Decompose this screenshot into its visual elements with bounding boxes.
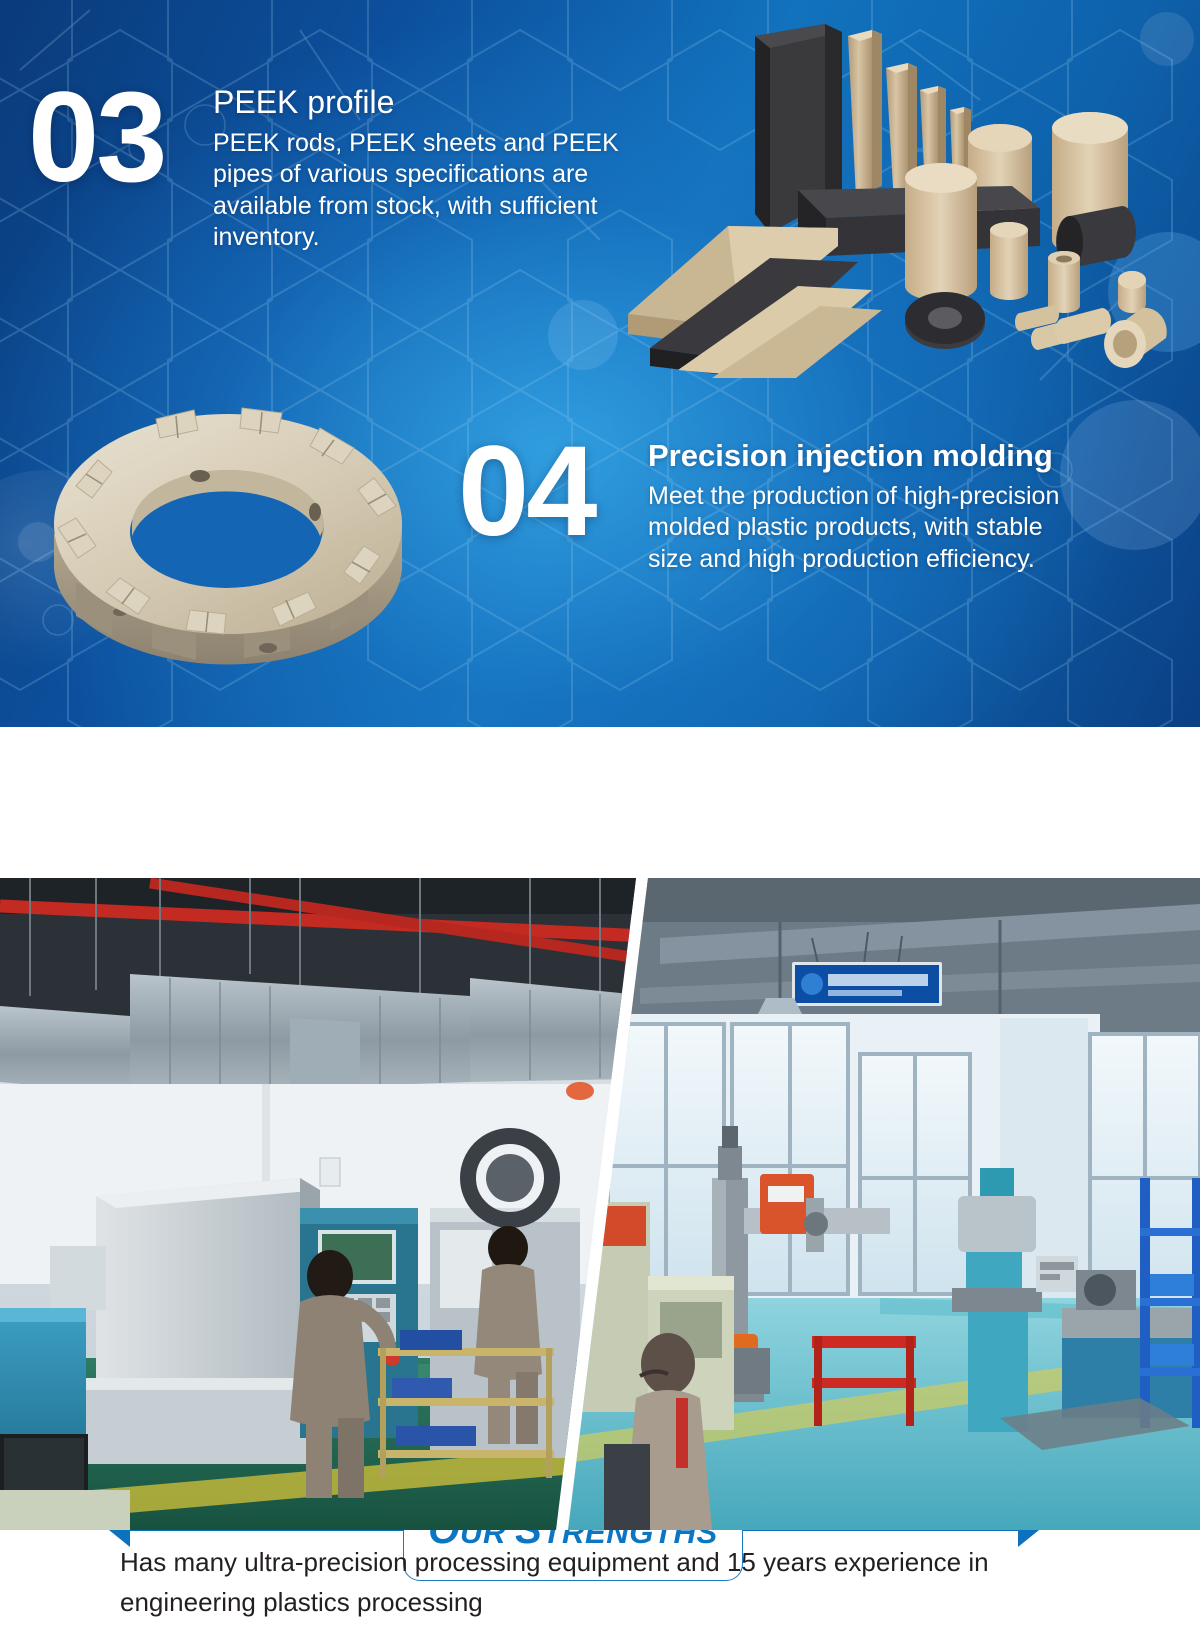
feature-item-04: 04 Precision injection molding Meet the … <box>458 432 1073 575</box>
tan-peek-pipe <box>1104 308 1167 368</box>
feature-title-03: PEEK profile <box>213 86 643 120</box>
feature-title-04: Precision injection molding <box>648 440 1073 473</box>
workshop-photo-pair <box>0 878 1200 1530</box>
tan-peek-rod-small <box>990 222 1028 300</box>
tan-peek-rod-front <box>905 163 977 301</box>
decorative-circle <box>548 300 618 370</box>
gear-ring-top-face <box>54 408 402 634</box>
peek-gear-ring-image <box>28 386 428 671</box>
feature-number-04: 04 <box>458 432 648 551</box>
window-bank <box>608 1024 970 1294</box>
feature-panel: 03 PEEK profile PEEK rods, PEEK sheets a… <box>0 0 1200 727</box>
parts-trolley <box>378 1330 554 1478</box>
decorative-circle <box>1060 400 1200 550</box>
page-caption: Has many ultra-precision processing equi… <box>120 1543 1100 1622</box>
feature-number-03: 03 <box>28 78 213 197</box>
feature-item-03: 03 PEEK profile PEEK rods, PEEK sheets a… <box>28 78 643 254</box>
feature-body-03: PEEK rods, PEEK sheets and PEEK pipes of… <box>213 128 643 254</box>
tan-peek-short-tube <box>1118 271 1146 313</box>
peek-profile-product-image <box>620 18 1192 378</box>
our-strengths-banner: OUR STRENGTHS <box>0 727 1200 878</box>
tan-peek-tube <box>1048 251 1080 313</box>
feature-body-04: Meet the production of high-precision mo… <box>648 481 1073 576</box>
black-peek-ring <box>905 292 985 349</box>
